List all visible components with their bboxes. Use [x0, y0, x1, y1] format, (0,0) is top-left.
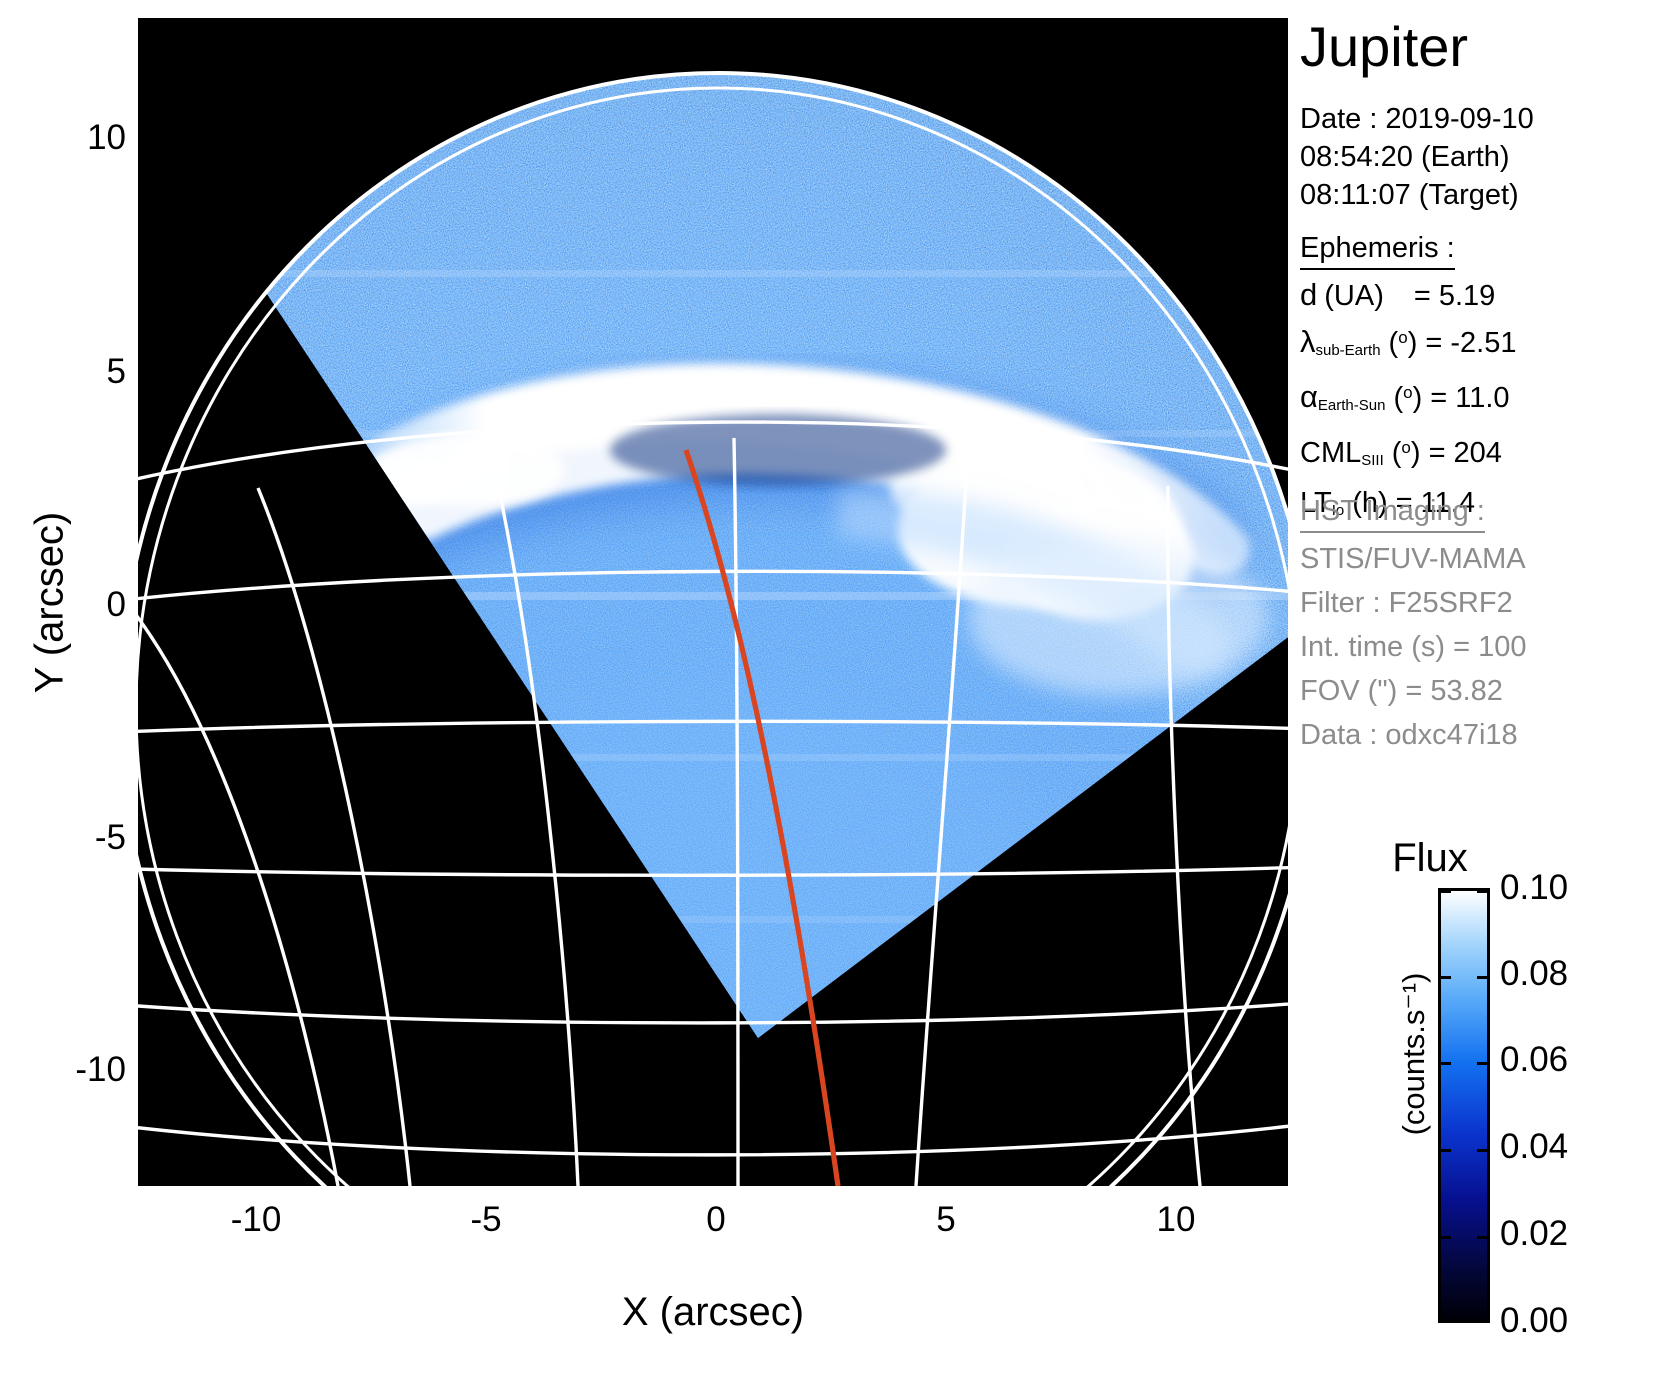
colorbar-tick-mark-1 — [1438, 976, 1451, 979]
ephemeris-unit-cml: (o) — [1392, 437, 1421, 469]
jupiter-fuv-image — [138, 18, 1288, 1186]
colorbar-tick-mark-r-0 — [1477, 890, 1490, 893]
ephemeris-row-sub-earth-latitude: λsub-Earth(o)= -2.51 — [1300, 321, 1516, 368]
x-tick-label-0: -10 — [196, 1200, 316, 1240]
ephemeris-value-d: = 5.19 — [1414, 279, 1495, 313]
colorbar-unit-label: (counts.s⁻¹) — [1396, 904, 1432, 1204]
ephemeris-symbol-d: d — [1300, 277, 1317, 312]
colorbar-tick-label-0: 0.10 — [1500, 868, 1568, 908]
colorbar-tick-mark-r-3 — [1477, 1149, 1490, 1152]
ephemeris-block: Ephemeris : d(UA)= 5.19 λsub-Earth(o)= -… — [1300, 232, 1516, 528]
colorbar-tick-label-1: 0.08 — [1500, 954, 1568, 994]
ephemeris-value-lambda: = -2.51 — [1425, 326, 1516, 360]
ephemeris-row-distance: d(UA)= 5.19 — [1300, 278, 1516, 313]
colorbar-gradient — [1438, 888, 1490, 1323]
ephemeris-subscript-siii: SIII — [1361, 452, 1384, 469]
x-tick-label-1: -5 — [426, 1200, 546, 1240]
colorbar-tick-label-2: 0.06 — [1500, 1040, 1568, 1080]
ephemeris-unit-d: (UA) — [1324, 280, 1384, 312]
y-axis-title: Y (arcsec) — [28, 473, 73, 733]
hst-dataset-id: Data : odxc47i18 — [1300, 717, 1526, 753]
ephemeris-row-phase-angle: αEarth-Sun(o)= 11.0 — [1300, 376, 1516, 423]
ephemeris-unit-lambda: (o) — [1389, 327, 1418, 359]
colorbar-tick-label-4: 0.02 — [1500, 1214, 1568, 1254]
ephemeris-value-alpha: = 11.0 — [1430, 381, 1509, 415]
target-title: Jupiter — [1300, 14, 1468, 79]
ephemeris-row-cml: CMLSIII(o)= 204 — [1300, 431, 1516, 478]
colorbar-tick-mark-0 — [1438, 890, 1451, 893]
x-tick-label-2: 0 — [656, 1200, 776, 1240]
hst-instrument: STIS/FUV-MAMA — [1300, 541, 1526, 577]
hst-imaging-block: HST Imaging : STIS/FUV-MAMA Filter : F25… — [1300, 495, 1526, 753]
ephemeris-value-cml: = 204 — [1429, 436, 1502, 470]
colorbar-tick-mark-r-2 — [1477, 1062, 1490, 1065]
ephemeris-symbol-alpha: α — [1300, 379, 1318, 414]
colorbar-tick-mark-2 — [1438, 1062, 1451, 1065]
observation-date-block: Date : 2019-09-10 08:54:20 (Earth) 08:11… — [1300, 100, 1534, 214]
hst-filter: Filter : F25SRF2 — [1300, 585, 1526, 621]
observation-time-earth: 08:54:20 (Earth) — [1300, 138, 1534, 176]
ephemeris-symbol-cml: CML — [1300, 437, 1361, 469]
info-sidebar: Jupiter Date : 2019-09-10 08:54:20 (Eart… — [1300, 0, 1676, 1367]
colorbar-tick-mark-r-1 — [1477, 976, 1490, 979]
x-tick-label-4: 10 — [1116, 1200, 1236, 1240]
hst-field-of-view: FOV (") = 53.82 — [1300, 673, 1526, 709]
colorbar-tick-mark-4 — [1438, 1236, 1451, 1239]
ephemeris-subscript-earth-sun: Earth-Sun — [1318, 397, 1386, 414]
colorbar-tick-mark-r-4 — [1477, 1236, 1490, 1239]
figure-root: 10 5 0 -5 -10 -10 -5 0 5 10 X (arcsec) Y… — [0, 0, 1676, 1367]
ephemeris-subscript-sub-earth: sub-Earth — [1316, 342, 1381, 359]
hst-imaging-heading: HST Imaging : — [1300, 495, 1485, 533]
colorbar: Flux (counts.s⁻¹) 0.10 0.08 0.06 0.04 0.… — [1300, 836, 1676, 1376]
observation-time-target: 08:11:07 (Target) — [1300, 176, 1534, 214]
y-tick-label-4: -10 — [36, 1050, 126, 1090]
ephemeris-unit-alpha: (o) — [1393, 382, 1422, 414]
ephemeris-symbol-lambda: λ — [1300, 324, 1316, 359]
colorbar-tick-label-5: 0.00 — [1500, 1301, 1568, 1341]
x-axis-title: X (arcsec) — [138, 1290, 1288, 1335]
hst-integration-time: Int. time (s) = 100 — [1300, 629, 1526, 665]
colorbar-tick-label-3: 0.04 — [1500, 1127, 1568, 1167]
y-tick-label-3: -5 — [46, 818, 126, 858]
observation-date: Date : 2019-09-10 — [1300, 100, 1534, 138]
x-tick-label-3: 5 — [886, 1200, 1006, 1240]
y-tick-label-1: 5 — [60, 352, 126, 392]
y-tick-label-0: 10 — [60, 118, 126, 158]
ephemeris-heading: Ephemeris : — [1300, 232, 1455, 270]
image-plot-panel — [138, 18, 1288, 1186]
colorbar-tick-mark-3 — [1438, 1149, 1451, 1152]
